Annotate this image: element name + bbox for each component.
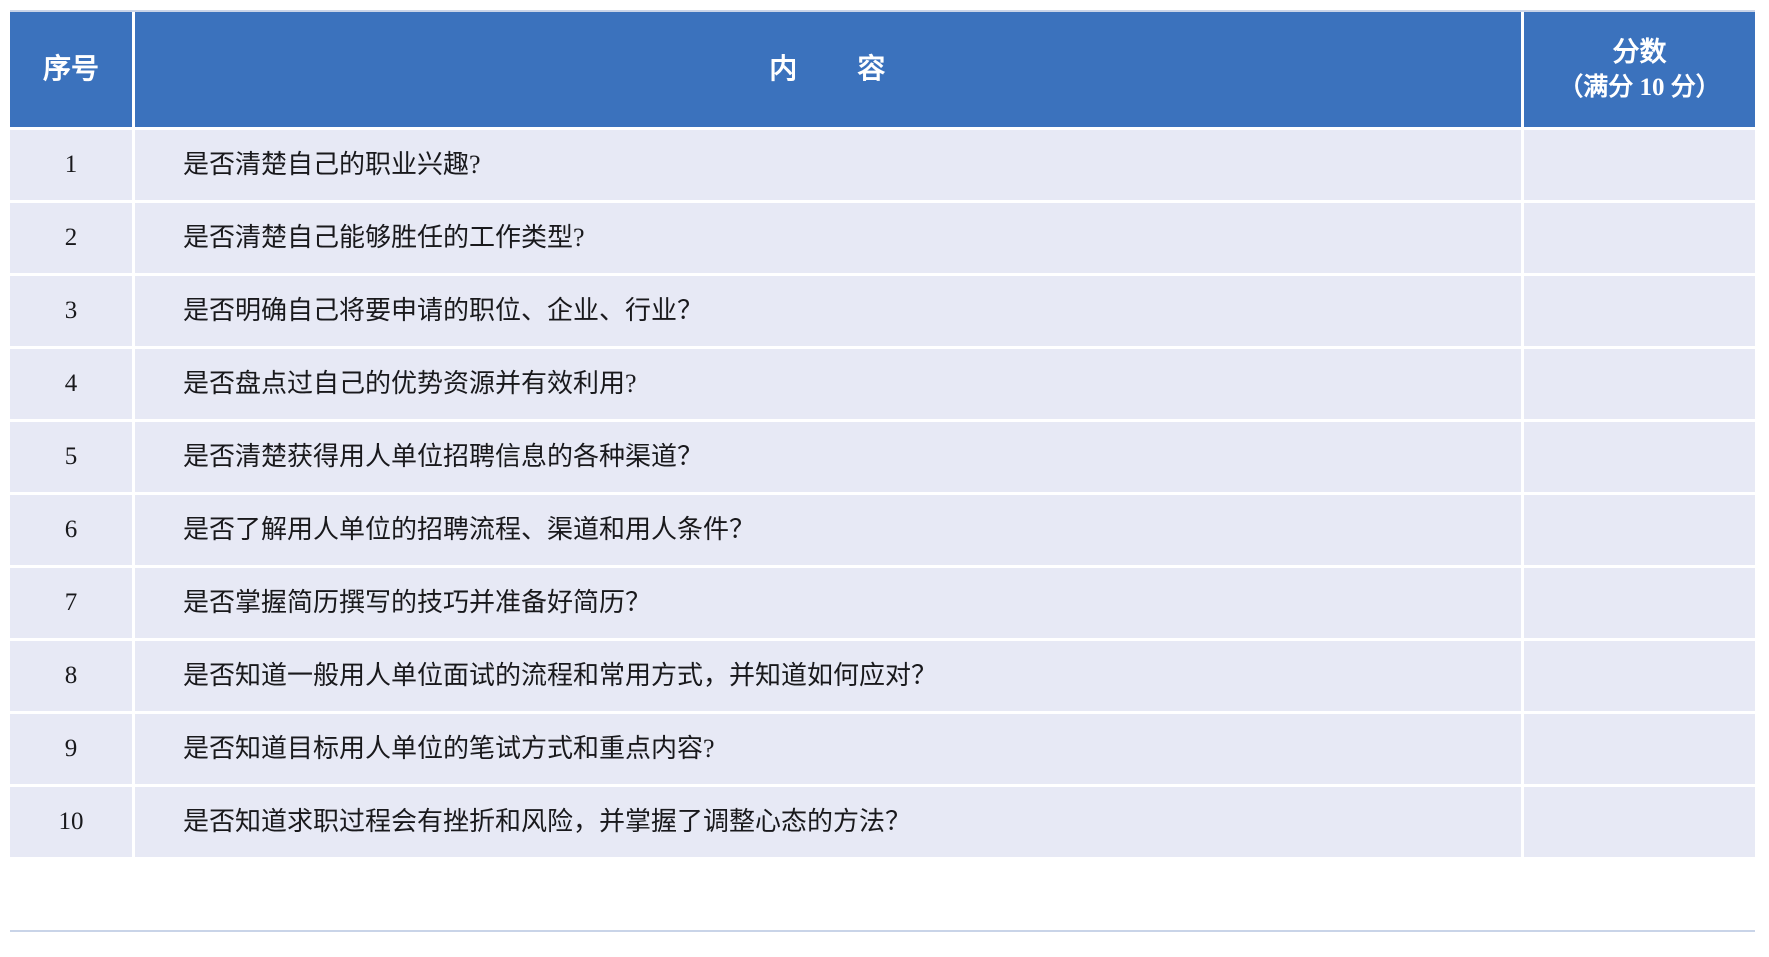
table-row: 3 是否明确自己将要申请的职位、企业、行业？ bbox=[10, 273, 1755, 346]
column-header-content-label: 内 容 bbox=[769, 52, 887, 88]
row-index-cell: 5 bbox=[10, 419, 135, 492]
row-index-cell: 4 bbox=[10, 346, 135, 419]
row-content-cell: 是否了解用人单位的招聘流程、渠道和用人条件？ bbox=[135, 492, 1524, 565]
row-content-cell: 是否盘点过自己的优势资源并有效利用? bbox=[135, 346, 1524, 419]
table-row: 2 是否清楚自己能够胜任的工作类型? bbox=[10, 200, 1755, 273]
scoring-checklist-table: 序号 内 容 分数 （满分 10 分） 1 是否清楚自己的职业兴趣? 2 是否清… bbox=[10, 12, 1755, 857]
row-score-cell[interactable] bbox=[1524, 784, 1755, 857]
row-content-cell: 是否清楚自己能够胜任的工作类型? bbox=[135, 200, 1524, 273]
row-content-cell: 是否知道求职过程会有挫折和风险，并掌握了调整心态的方法？ bbox=[135, 784, 1524, 857]
row-score-cell[interactable] bbox=[1524, 200, 1755, 273]
row-index-cell: 10 bbox=[10, 784, 135, 857]
row-index-cell: 2 bbox=[10, 200, 135, 273]
column-header-content: 内 容 bbox=[135, 12, 1524, 127]
row-index-cell: 3 bbox=[10, 273, 135, 346]
column-header-score: 分数 （满分 10 分） bbox=[1524, 12, 1755, 127]
row-score-cell[interactable] bbox=[1524, 638, 1755, 711]
column-header-index: 序号 bbox=[10, 12, 135, 127]
row-index-cell: 6 bbox=[10, 492, 135, 565]
row-content-cell: 是否清楚获得用人单位招聘信息的各种渠道？ bbox=[135, 419, 1524, 492]
row-score-cell[interactable] bbox=[1524, 127, 1755, 200]
row-content-cell: 是否知道目标用人单位的笔试方式和重点内容? bbox=[135, 711, 1524, 784]
row-content-cell: 是否知道一般用人单位面试的流程和常用方式，并知道如何应对？ bbox=[135, 638, 1524, 711]
table-row: 8 是否知道一般用人单位面试的流程和常用方式，并知道如何应对？ bbox=[10, 638, 1755, 711]
row-index-cell: 9 bbox=[10, 711, 135, 784]
row-score-cell[interactable] bbox=[1524, 711, 1755, 784]
table-row: 4 是否盘点过自己的优势资源并有效利用? bbox=[10, 346, 1755, 419]
row-score-cell[interactable] bbox=[1524, 492, 1755, 565]
row-content-cell: 是否掌握简历撰写的技巧并准备好简历？ bbox=[135, 565, 1524, 638]
row-score-cell[interactable] bbox=[1524, 565, 1755, 638]
row-score-cell[interactable] bbox=[1524, 346, 1755, 419]
table-bottom-rule bbox=[10, 930, 1755, 932]
row-index-cell: 1 bbox=[10, 127, 135, 200]
row-score-cell[interactable] bbox=[1524, 419, 1755, 492]
row-content-cell: 是否清楚自己的职业兴趣? bbox=[135, 127, 1524, 200]
column-header-score-title: 分数 bbox=[1524, 35, 1755, 70]
table-row: 5 是否清楚获得用人单位招聘信息的各种渠道？ bbox=[10, 419, 1755, 492]
table-row: 10 是否知道求职过程会有挫折和风险，并掌握了调整心态的方法？ bbox=[10, 784, 1755, 857]
table-row: 1 是否清楚自己的职业兴趣? bbox=[10, 127, 1755, 200]
table-row: 6 是否了解用人单位的招聘流程、渠道和用人条件？ bbox=[10, 492, 1755, 565]
table-header: 序号 内 容 分数 （满分 10 分） bbox=[10, 12, 1755, 127]
table-header-row: 序号 内 容 分数 （满分 10 分） bbox=[10, 12, 1755, 127]
scoring-checklist-table-wrapper: 序号 内 容 分数 （满分 10 分） 1 是否清楚自己的职业兴趣? 2 是否清… bbox=[10, 12, 1755, 933]
table-body: 1 是否清楚自己的职业兴趣? 2 是否清楚自己能够胜任的工作类型? 3 是否明确… bbox=[10, 127, 1755, 857]
row-index-cell: 7 bbox=[10, 565, 135, 638]
table-row: 7 是否掌握简历撰写的技巧并准备好简历？ bbox=[10, 565, 1755, 638]
row-index-cell: 8 bbox=[10, 638, 135, 711]
column-header-score-subtitle: （满分 10 分） bbox=[1524, 72, 1755, 104]
table-row: 9 是否知道目标用人单位的笔试方式和重点内容? bbox=[10, 711, 1755, 784]
row-content-cell: 是否明确自己将要申请的职位、企业、行业？ bbox=[135, 273, 1524, 346]
row-score-cell[interactable] bbox=[1524, 273, 1755, 346]
